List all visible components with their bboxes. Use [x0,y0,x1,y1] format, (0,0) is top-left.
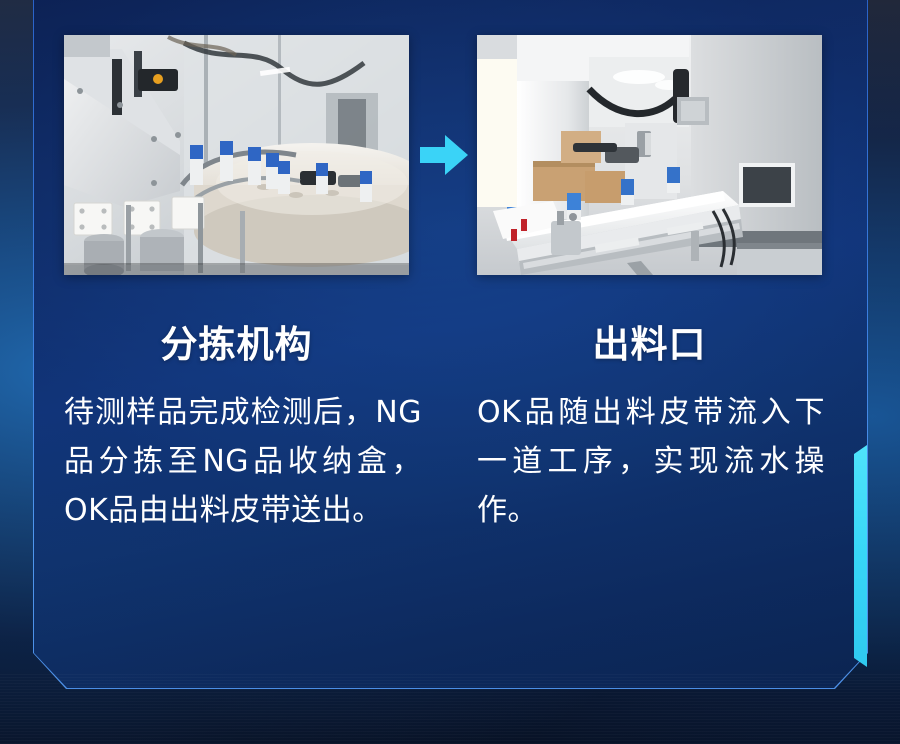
heading-sorting-mechanism: 分拣机构 [64,322,409,368]
photo-discharge-port [477,35,822,275]
arrow-right-icon [418,130,470,180]
photo-sorting-mechanism [64,35,409,275]
body-discharge-port: OK品随出料皮带流入下一道工序，实现流水操作。 [477,388,825,535]
heading-discharge-port: 出料口 [477,322,822,368]
body-sorting-mechanism: 待测样品完成检测后，NG品分拣至NG品收纳盒，OK品由出料皮带送出。 [64,388,422,535]
page-background: 分拣机构 待测样品完成检测后，NG品分拣至NG品收纳盒，OK品由出料皮带送出。 [0,0,900,744]
content-area: 分拣机构 待测样品完成检测后，NG品分拣至NG品收纳盒，OK品由出料皮带送出。 [0,0,900,744]
